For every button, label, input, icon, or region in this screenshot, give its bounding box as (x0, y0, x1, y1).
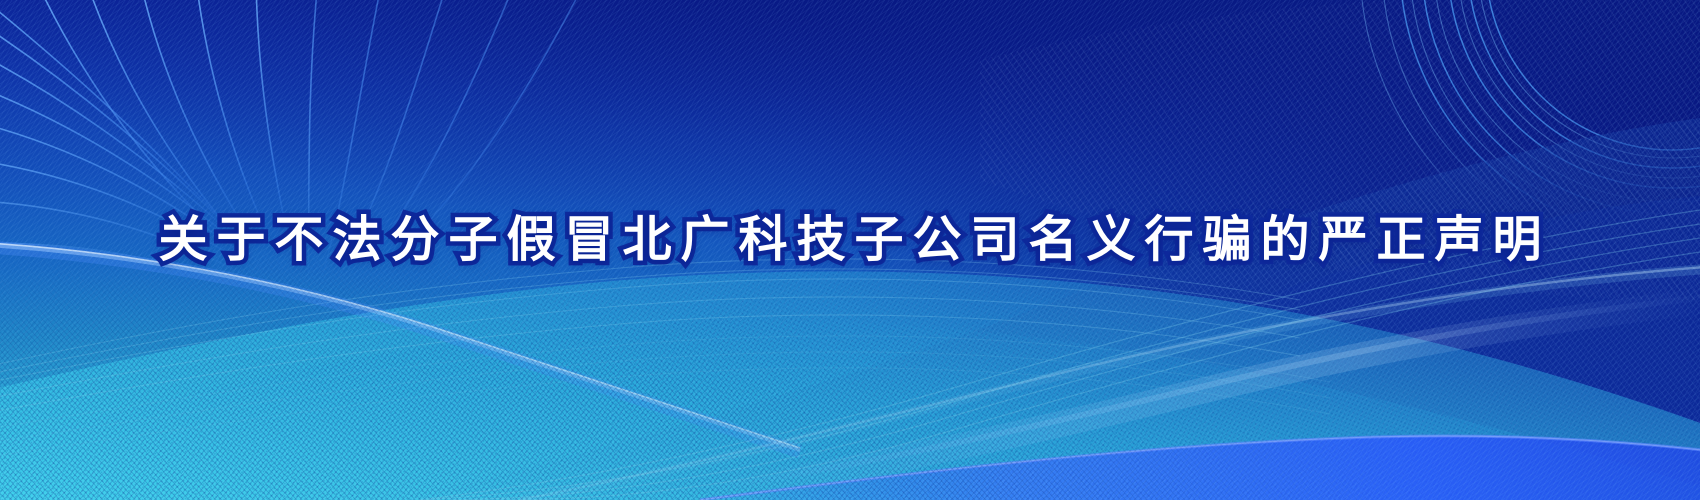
promo-banner: 关于不法分子假冒北广科技子公司名义行骗的严正声明 (0, 0, 1700, 500)
wave-contour-lines (0, 259, 1330, 458)
wave-dark-bands (430, 118, 1700, 500)
banner-headline: 关于不法分子假冒北广科技子公司名义行骗的严正声明 (149, 208, 1550, 272)
headline-container: 关于不法分子假冒北广科技子公司名义行骗的严正声明 (0, 208, 1700, 272)
bright-blue-ribbon (700, 436, 1700, 500)
light-sweep (700, 296, 1700, 494)
grid-mesh-decor (0, 0, 586, 334)
wave-cyan-main (0, 271, 1700, 500)
